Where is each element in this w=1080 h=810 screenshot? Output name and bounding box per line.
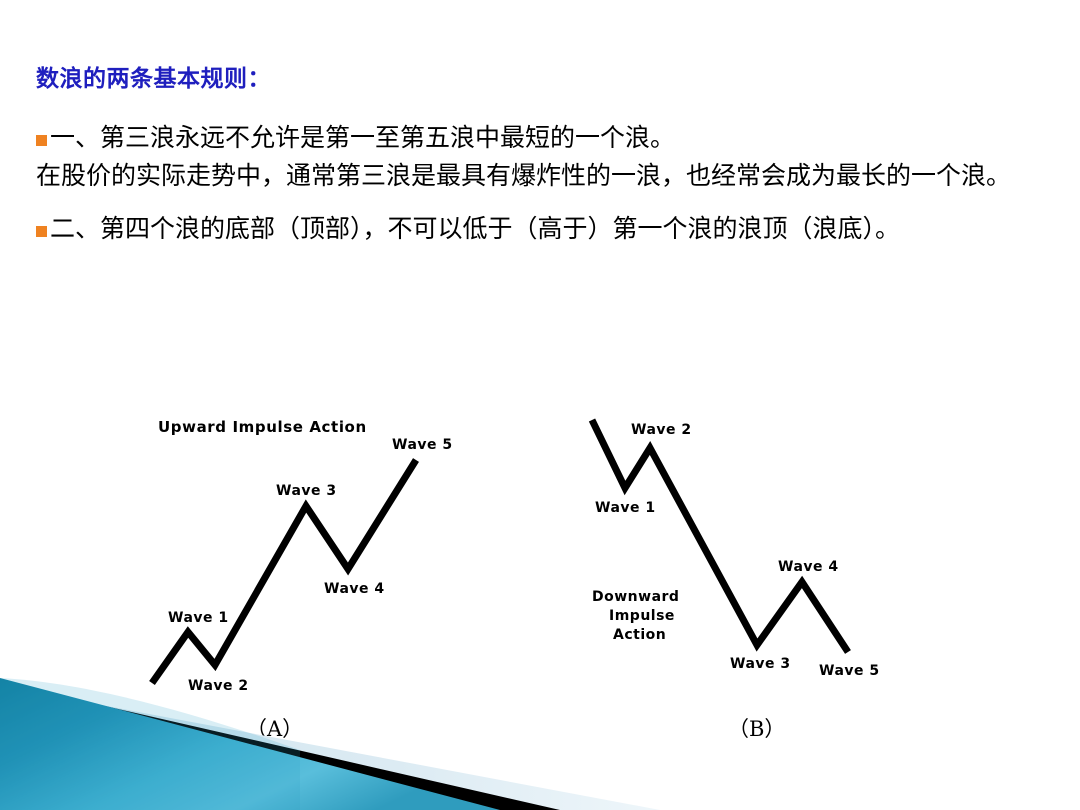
rule-one-bullet: 一、第三浪永远不允许是第一至第五浪中最短的一个浪。: [36, 122, 1046, 155]
rule-one-text: 一、第三浪永远不允许是第一至第五浪中最短的一个浪。: [50, 122, 675, 155]
downward-impulse-title-line-3: Action: [613, 627, 666, 643]
slide-canvas: 数浪的两条基本规则： 一、第三浪永远不允许是第一至第五浪中最短的一个浪。 在股价…: [0, 0, 1080, 810]
slide-text-block: 数浪的两条基本规则： 一、第三浪永远不允许是第一至第五浪中最短的一个浪。 在股价…: [36, 66, 1046, 251]
downward-impulse-svg: Downward Impulse Action Wave 1 Wave 2 Wa…: [570, 405, 910, 695]
label-a-wave-3: Wave 3: [276, 483, 337, 499]
upward-impulse-svg: Upward Impulse Action Wave 1 Wave 2 Wave…: [130, 405, 490, 705]
label-b-wave-2: Wave 2: [631, 422, 692, 438]
label-a-wave-5: Wave 5: [392, 437, 453, 453]
rule-two-bullet: 二、第四个浪的底部（顶部），不可以低于（高于）第一个浪的浪顶（浪底）。: [36, 213, 1046, 246]
label-a-wave-2: Wave 2: [188, 678, 249, 694]
chart-downward-impulse: Downward Impulse Action Wave 1 Wave 2 Wa…: [570, 405, 910, 695]
figure-captions: （A） （B）: [0, 713, 1080, 753]
page-title: 数浪的两条基本规则：: [36, 66, 1046, 94]
square-bullet-icon: [36, 135, 47, 146]
caption-figure-a: （A）: [246, 713, 303, 743]
upward-impulse-title: Upward Impulse Action: [158, 418, 367, 436]
square-bullet-icon: [36, 226, 47, 237]
downward-impulse-title-line-1: Downward: [592, 589, 679, 605]
label-b-wave-5: Wave 5: [819, 663, 880, 679]
rule-two-text: 二、第四个浪的底部（顶部），不可以低于（高于）第一个浪的浪顶（浪底）。: [50, 213, 900, 246]
label-b-wave-3: Wave 3: [730, 656, 791, 672]
rule-one-explanation: 在股价的实际走势中，通常第三浪是最具有爆炸性的一浪，也经常会成为最长的一个浪。: [36, 160, 1042, 193]
chart-upward-impulse: Upward Impulse Action Wave 1 Wave 2 Wave…: [130, 405, 490, 705]
label-b-wave-1: Wave 1: [595, 500, 656, 516]
label-b-wave-4: Wave 4: [778, 559, 839, 575]
label-a-wave-1: Wave 1: [168, 610, 229, 626]
downward-impulse-title-line-2: Impulse: [609, 608, 675, 624]
caption-figure-b: （B）: [728, 713, 785, 743]
label-a-wave-4: Wave 4: [324, 581, 385, 597]
